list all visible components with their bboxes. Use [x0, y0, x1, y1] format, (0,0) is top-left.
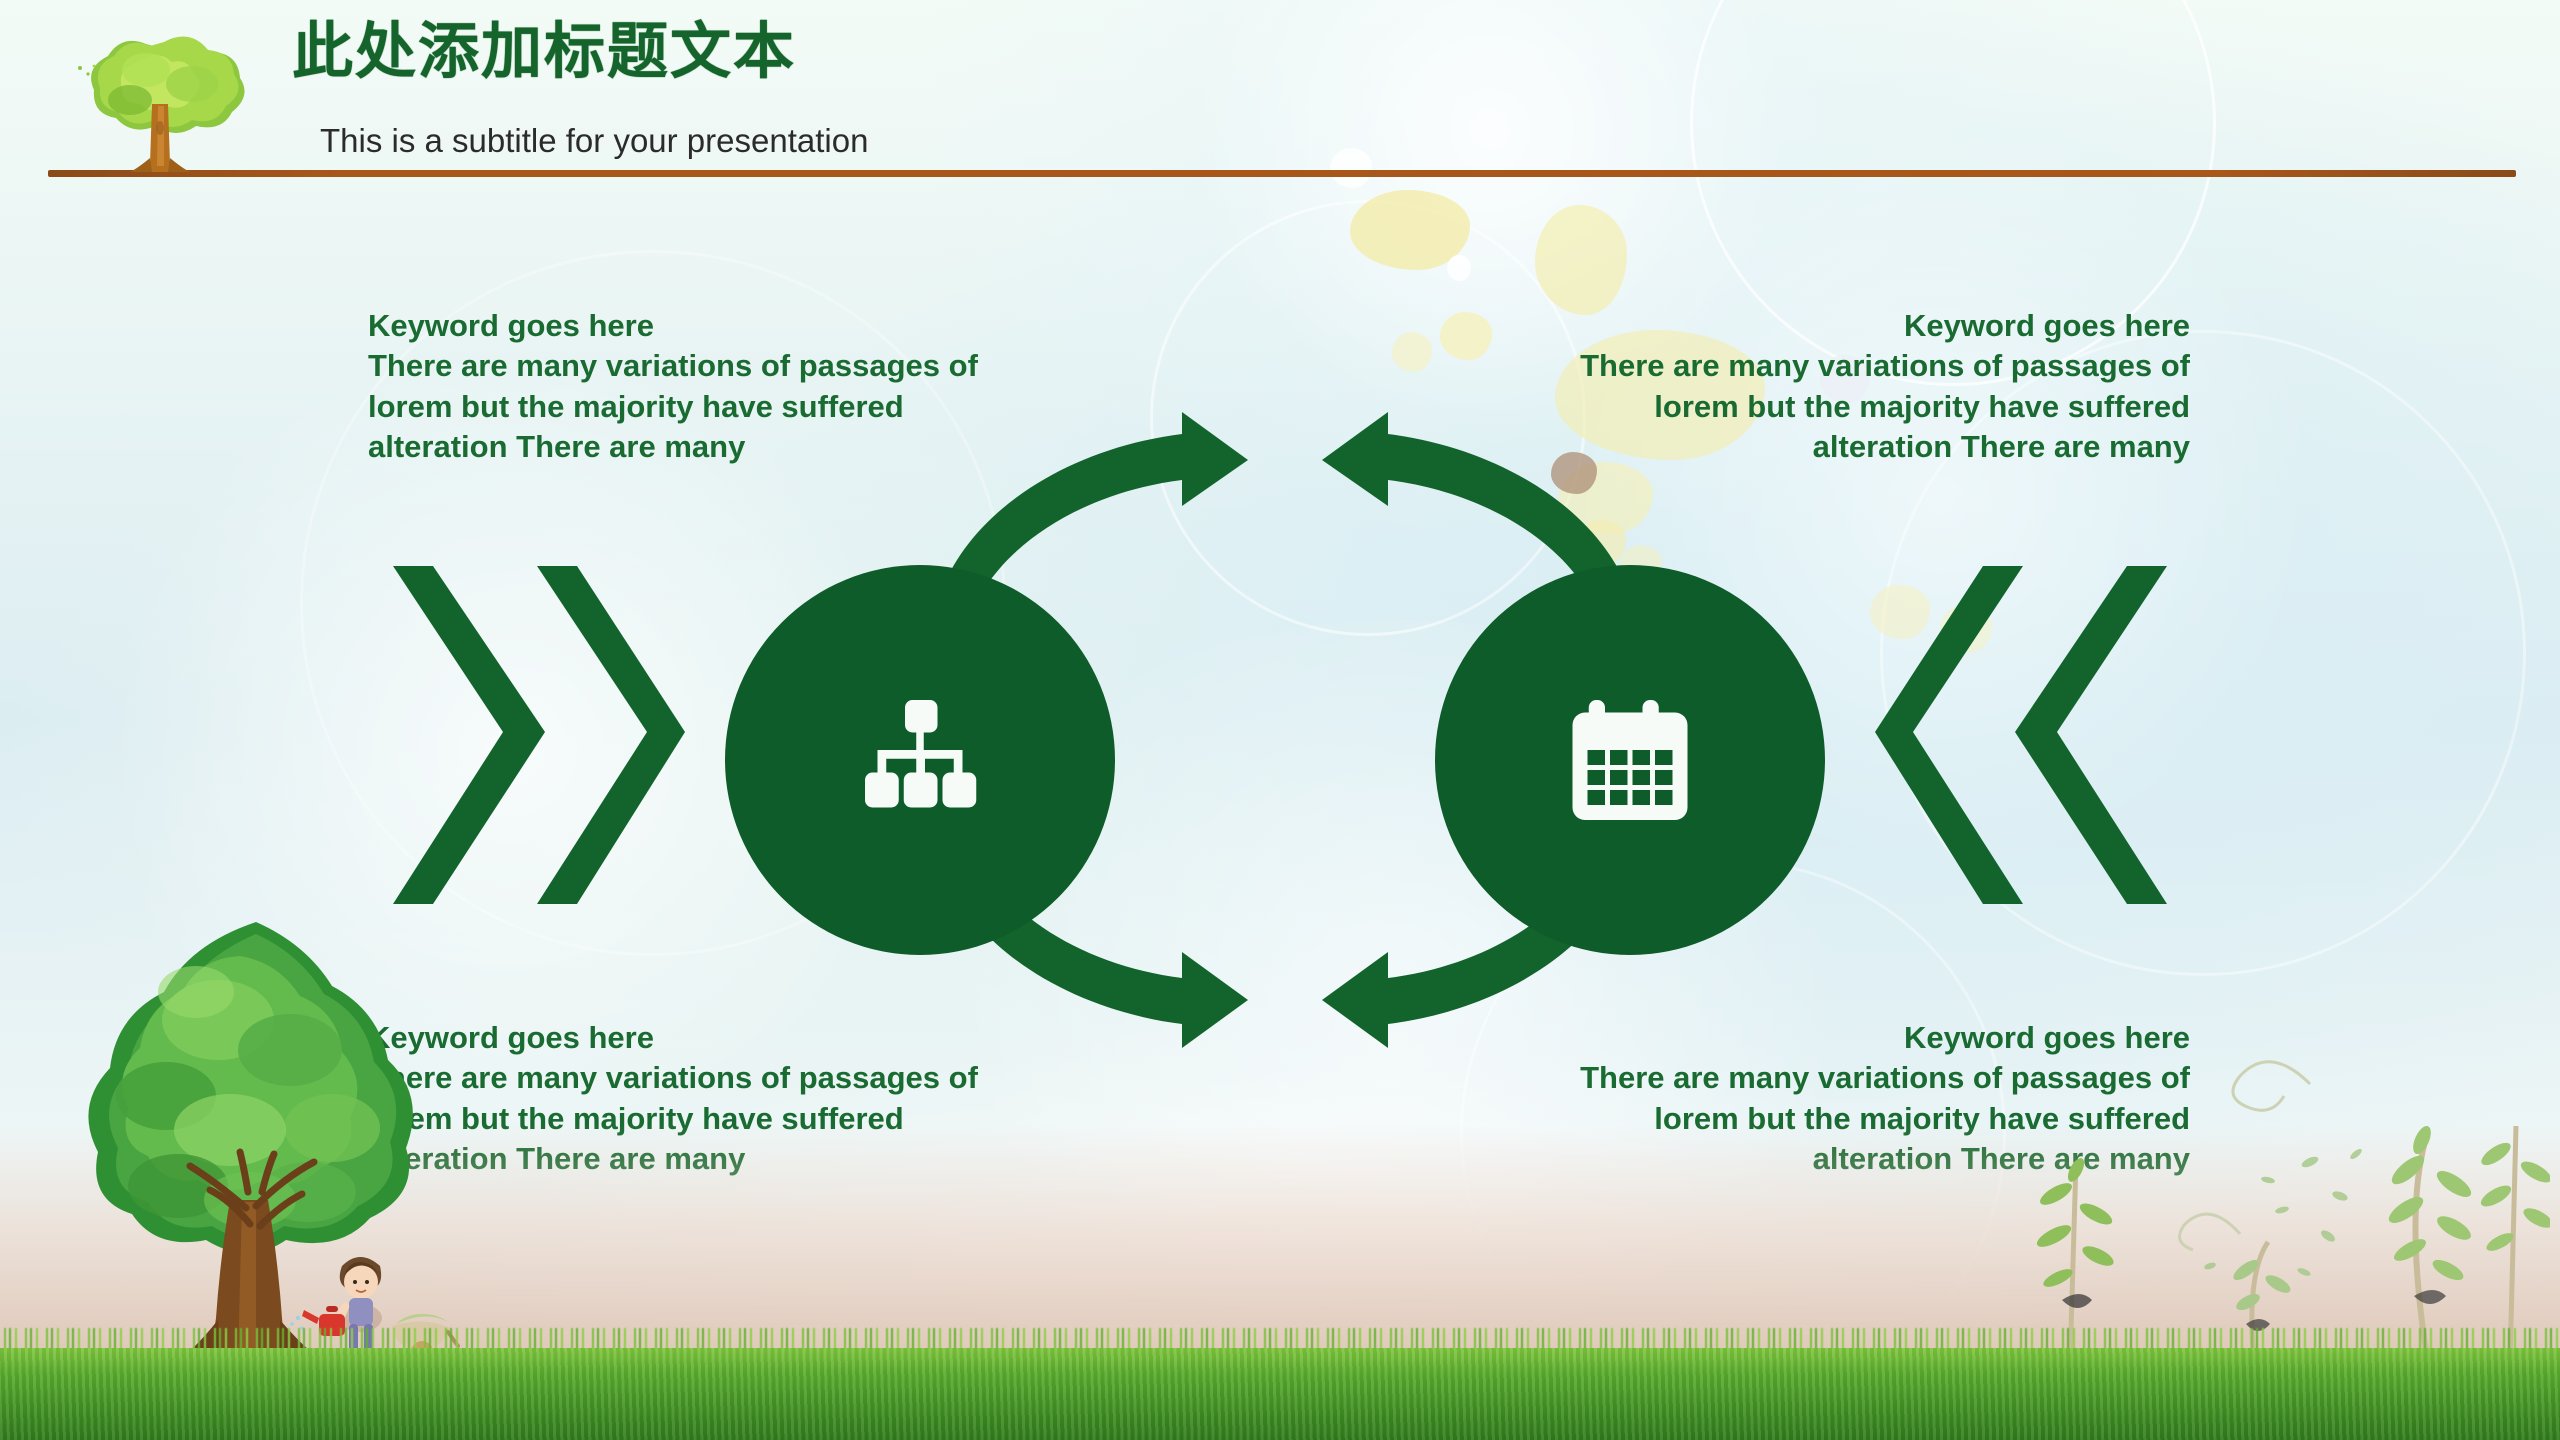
big-tree-icon	[70, 900, 460, 1380]
right-double-chevron-icon	[1870, 560, 2175, 910]
slide-canvas: 此处添加标题文本 This is a subtitle for your pre…	[0, 0, 2560, 1440]
text-block-top-right: Keyword goes here There are many variati…	[1570, 306, 2190, 467]
calendar-icon	[1555, 685, 1705, 835]
page-title: 此处添加标题文本	[292, 20, 796, 84]
tree-icon	[60, 8, 260, 176]
bg-splotch-4	[1392, 332, 1432, 372]
node-circle-sitemap[interactable]	[725, 565, 1115, 955]
body-top-right: There are many variations of passages of…	[1580, 348, 2190, 464]
saplings-icon	[2010, 984, 2550, 1364]
bg-splotch-3	[1440, 312, 1492, 360]
left-double-chevron-icon	[385, 560, 690, 910]
keyword-top-left: Keyword goes here	[368, 306, 988, 346]
header-divider	[48, 170, 2516, 177]
keyword-top-right: Keyword goes here	[1570, 306, 2190, 346]
page-subtitle: This is a subtitle for your presentation	[320, 122, 868, 160]
keyword-bottom-left: Keyword goes here	[368, 1018, 988, 1058]
grass-strip	[0, 1348, 2560, 1440]
node-circle-calendar[interactable]	[1435, 565, 1825, 955]
body-top-left: There are many variations of passages of…	[368, 348, 978, 464]
bg-splotch-2	[1535, 205, 1627, 315]
bg-splotch-13	[1330, 148, 1372, 188]
text-block-top-left: Keyword goes here There are many variati…	[368, 306, 988, 467]
sitemap-icon	[845, 685, 995, 835]
bg-splotch-14	[1447, 255, 1471, 281]
